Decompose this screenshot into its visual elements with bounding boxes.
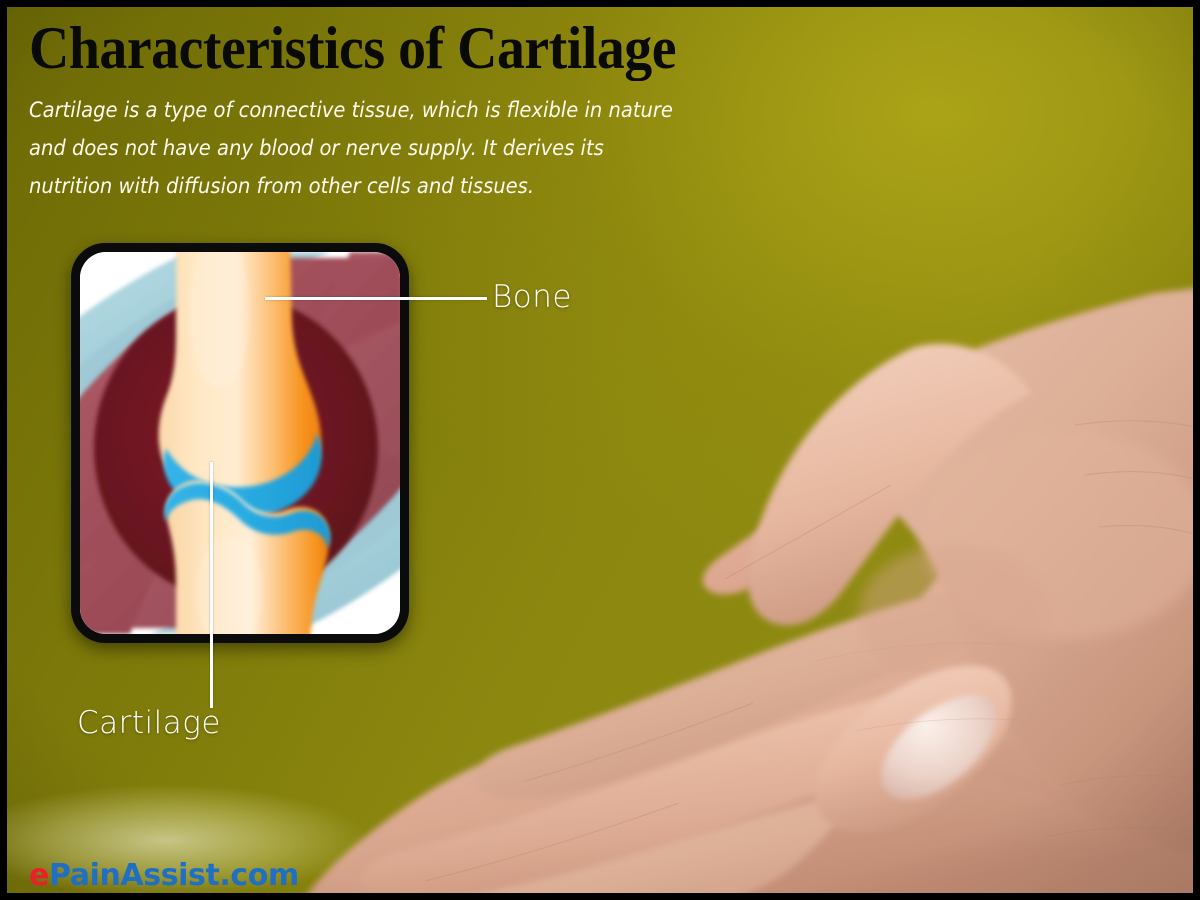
cartilage-leader-line — [210, 462, 213, 708]
intro-line-1: Cartilage is a type of connective tissue… — [29, 91, 801, 129]
infographic-root: Characteristics of Cartilage Cartilage i… — [0, 0, 1200, 900]
joint-diagram-card — [71, 243, 409, 643]
callout-label-bone: Bone — [492, 279, 572, 315]
bone-leader-line — [265, 297, 487, 300]
intro-paragraph: Cartilage is a type of connective tissue… — [29, 91, 801, 205]
callout-label-cartilage: Cartilage — [77, 705, 221, 741]
joint-diagram-illustration — [80, 252, 400, 634]
intro-line-2: and does not have any blood or nerve sup… — [29, 129, 801, 167]
site-logo-prefix: e — [29, 858, 49, 893]
site-logo[interactable]: ePainAssist.com — [29, 859, 299, 893]
page-title: Characteristics of Cartilage — [29, 15, 922, 81]
site-logo-name: PainAssist.com — [49, 858, 299, 893]
intro-line-3: nutrition with diffusion from other cell… — [29, 167, 801, 205]
